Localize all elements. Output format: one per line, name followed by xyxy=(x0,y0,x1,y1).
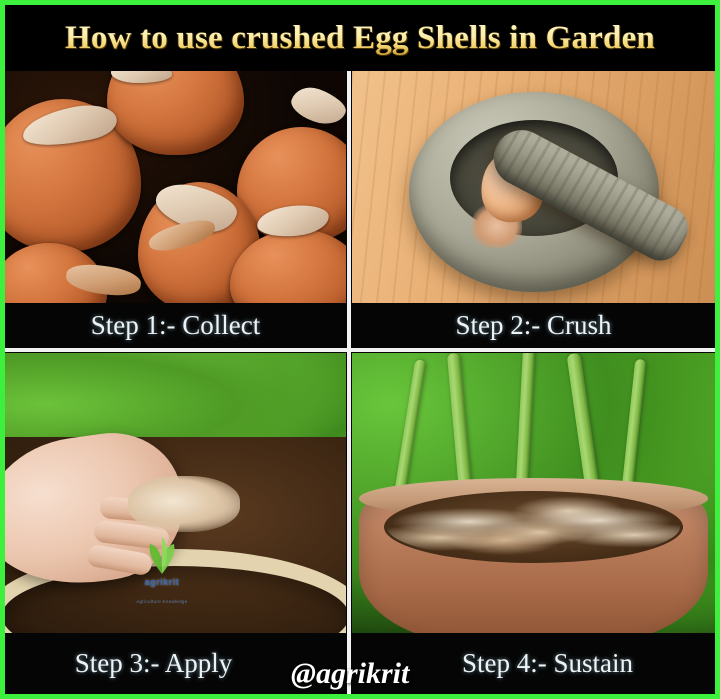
step-4-photo xyxy=(352,353,715,633)
steps-grid: Step 1:- Collect Step 2:- Crush xyxy=(5,71,715,694)
step-2-photo xyxy=(352,71,715,303)
agrikrit-logo-text: agrikrit xyxy=(145,577,180,587)
step-1-label: Step 1:- Collect xyxy=(91,310,260,341)
step-card-4: Step 4:- Sustain xyxy=(352,353,715,694)
step-3-label: Step 3:- Apply xyxy=(75,648,233,679)
step-1-photo xyxy=(5,71,346,303)
title-bar: How to use crushed Egg Shells in Garden xyxy=(5,5,715,71)
watermark-handle: @agrikrit xyxy=(291,657,409,691)
agrikrit-logo-tagline: Agriculture Knowledge xyxy=(136,599,187,604)
agrikrit-leaf-icon xyxy=(136,529,188,575)
crushed-shells-pile xyxy=(128,476,241,532)
step-card-3: agrikrit Agriculture Knowledge Step 3:- … xyxy=(5,353,346,694)
terracotta-pot xyxy=(359,487,707,633)
egg-shell-mulch xyxy=(387,494,680,560)
step-2-label: Step 2:- Crush xyxy=(455,310,611,341)
step-2-caption: Step 2:- Crush xyxy=(352,303,715,347)
step-1-caption: Step 1:- Collect xyxy=(5,303,346,347)
vertical-divider xyxy=(347,71,351,694)
step-3-photo: agrikrit Agriculture Knowledge xyxy=(5,353,346,633)
page-title: How to use crushed Egg Shells in Garden xyxy=(65,20,655,57)
infographic-card: How to use crushed Egg Shells in Garden xyxy=(0,0,720,699)
step-card-1: Step 1:- Collect xyxy=(5,71,346,347)
step-4-label: Step 4:- Sustain xyxy=(462,648,633,679)
step-card-2: Step 2:- Crush xyxy=(352,71,715,347)
horizontal-divider xyxy=(5,348,715,352)
